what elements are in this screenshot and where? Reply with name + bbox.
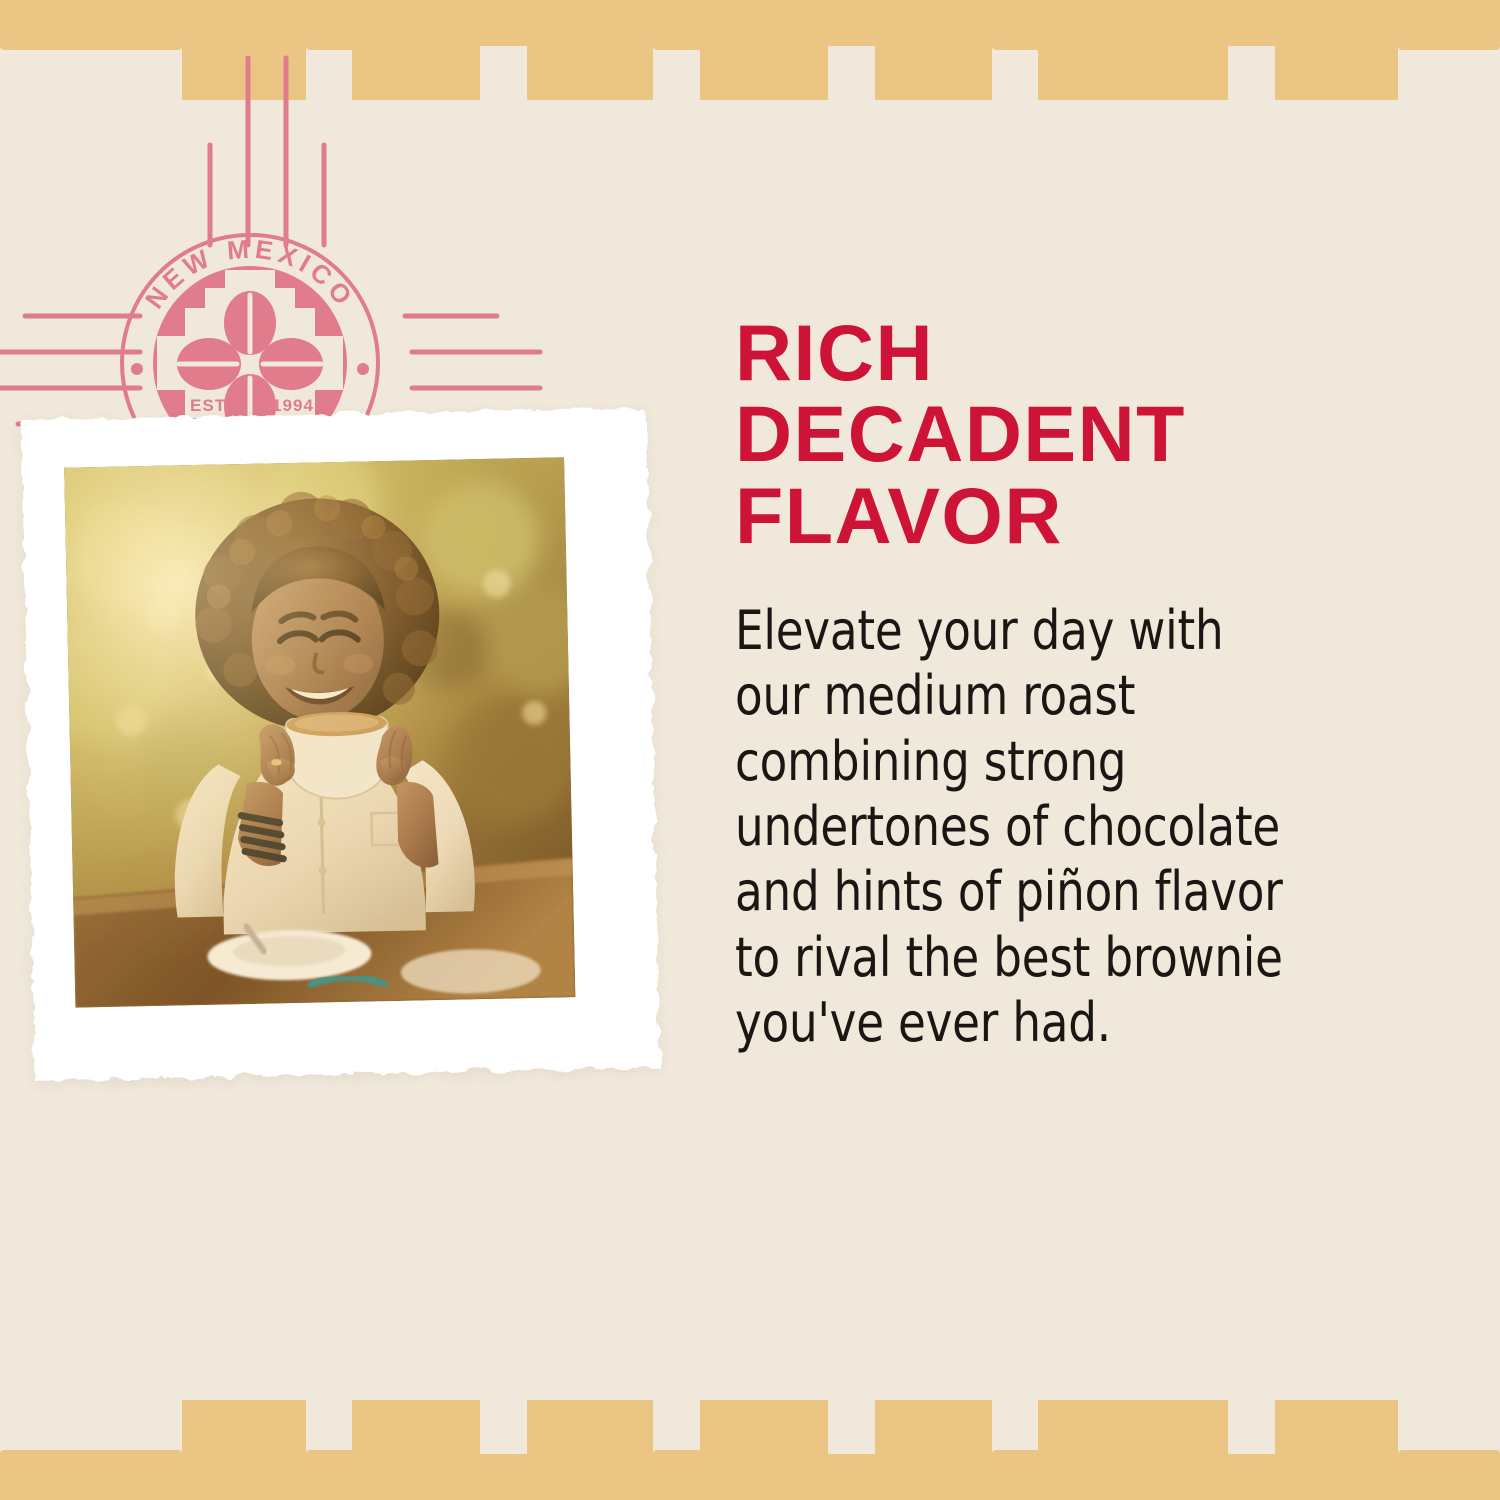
body-copy: Elevate your day with our medium roast c… [735, 556, 1405, 1055]
logo-dot-left [131, 363, 143, 375]
lifestyle-photo [21, 408, 660, 1081]
body-line-7: you've ever had. [735, 990, 1405, 1055]
photo-image [64, 457, 575, 1007]
logo-dot-right [357, 363, 369, 375]
headline-line-1: RICH [735, 312, 1455, 393]
body-line-6: to rival the best brownie [735, 925, 1405, 990]
headline-line-3: FLAVOR [735, 475, 1455, 556]
body-line-1: Elevate your day with [735, 598, 1405, 663]
headline-line-2: DECADENT [735, 393, 1455, 474]
body-line-3: combining strong [735, 729, 1405, 794]
copy-block: RICH DECADENT FLAVOR Elevate your day wi… [735, 312, 1455, 1055]
body-line-4: undertones of chocolate [735, 794, 1405, 859]
logo-est-label: EST. [190, 396, 230, 415]
top-stepped-border [0, 0, 1500, 100]
bottom-stepped-border [0, 1400, 1500, 1500]
marketing-banner: NEW MEXICO PIÑON COFFEE [0, 0, 1500, 1500]
body-line-2: our medium roast [735, 663, 1405, 728]
body-line-5: and hints of piñon flavor [735, 859, 1405, 924]
page-headline: RICH DECADENT FLAVOR [735, 312, 1455, 556]
logo-est-year: 1994 [272, 396, 314, 415]
